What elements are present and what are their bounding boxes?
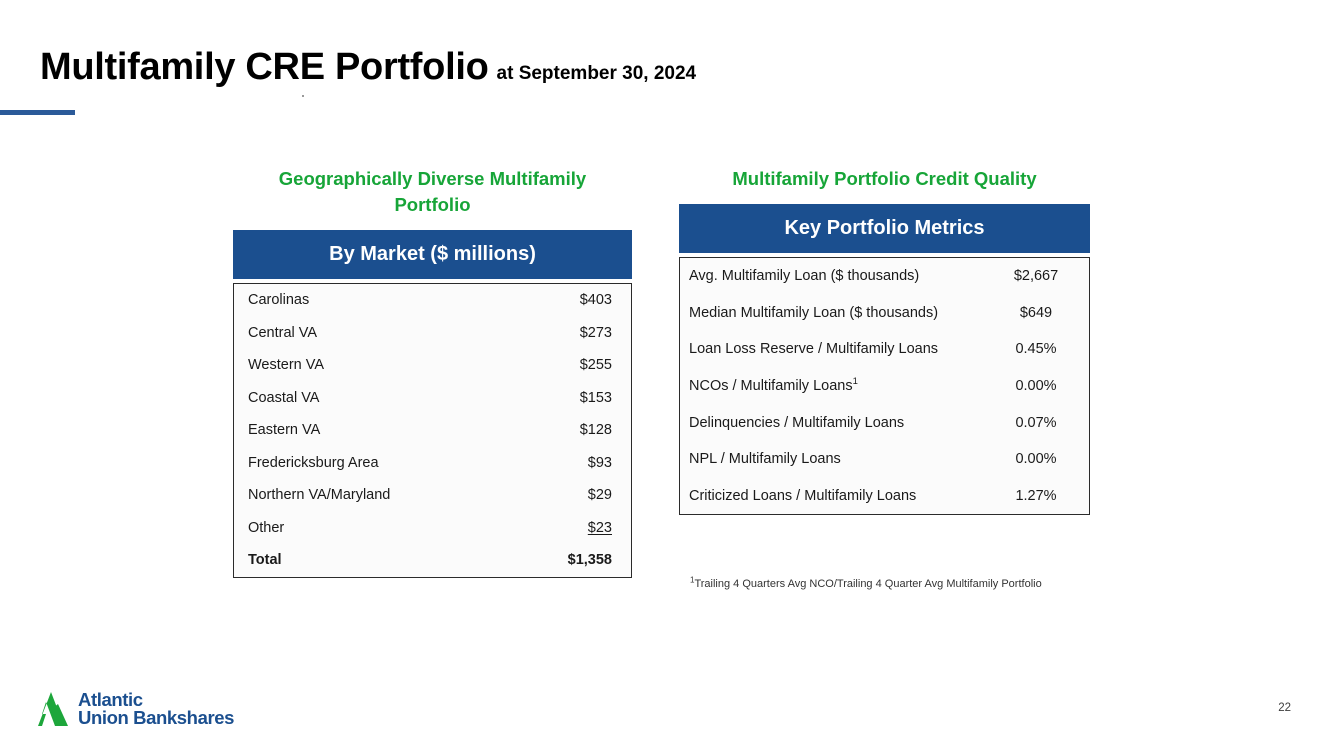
market-label: Carolinas [234, 284, 492, 317]
metric-label: Median Multifamily Loan ($ thousands) [680, 295, 983, 332]
page-title: Multifamily CRE Portfolioat September 30… [40, 46, 696, 89]
table-row: Eastern VA $128 [234, 414, 631, 447]
market-label: Other [234, 512, 492, 545]
metric-label-with-footnote: NCOs / Multifamily Loans1 [680, 368, 983, 405]
market-label: Eastern VA [234, 414, 492, 447]
metric-label: Loan Loss Reserve / Multifamily Loans [680, 331, 983, 368]
market-label: Central VA [234, 317, 492, 350]
total-value: $1,358 [492, 544, 631, 577]
left-panel-heading: Geographically Diverse Multifamily Portf… [233, 166, 632, 218]
metric-label: NPL / Multifamily Loans [680, 441, 983, 478]
market-value: $128 [492, 414, 631, 447]
market-value: $403 [492, 284, 631, 317]
logo-line-2: Union Bankshares [78, 709, 234, 727]
market-value: $255 [492, 349, 631, 382]
footnote-marker: 1 [853, 376, 858, 387]
metric-value: 1.27% [983, 478, 1089, 515]
logo-wordmark: Atlantic Union Bankshares [78, 691, 234, 727]
market-label: Coastal VA [234, 382, 492, 415]
market-label: Fredericksburg Area [234, 447, 492, 480]
table-row: Coastal VA $153 [234, 382, 631, 415]
market-value: $29 [492, 479, 631, 512]
metric-value: 0.00% [983, 441, 1089, 478]
panel-geographic-distribution: Geographically Diverse Multifamily Portf… [233, 166, 632, 578]
table-row: Fredericksburg Area $93 [234, 447, 631, 480]
metric-value: 0.45% [983, 331, 1089, 368]
table-row: Avg. Multifamily Loan ($ thousands) $2,6… [680, 258, 1089, 295]
table-row-total: Total $1,358 [234, 544, 631, 577]
metric-label: Delinquencies / Multifamily Loans [680, 404, 983, 441]
page-title-main: Multifamily CRE Portfolio [40, 46, 489, 88]
decorative-dot [302, 95, 304, 97]
key-metrics-table-header: Key Portfolio Metrics [679, 204, 1090, 253]
market-label: Western VA [234, 349, 492, 382]
metric-label: Avg. Multifamily Loan ($ thousands) [680, 258, 983, 295]
market-value: $273 [492, 317, 631, 350]
page-title-date: at September 30, 2024 [497, 63, 697, 84]
table-row: NCOs / Multifamily Loans1 0.00% [680, 368, 1089, 405]
metric-value: $649 [983, 295, 1089, 332]
table-row: Northern VA/Maryland $29 [234, 479, 631, 512]
metric-label-text: NCOs / Multifamily Loans [689, 378, 853, 394]
metric-value: 0.07% [983, 404, 1089, 441]
metric-value: $2,667 [983, 258, 1089, 295]
metric-value: 0.00% [983, 368, 1089, 405]
atlantic-union-mark-icon [38, 690, 72, 728]
table-row: Median Multifamily Loan ($ thousands) $6… [680, 295, 1089, 332]
table-row: Loan Loss Reserve / Multifamily Loans 0.… [680, 331, 1089, 368]
by-market-table-header: By Market ($ millions) [233, 230, 632, 279]
market-value-subtotal-rule: $23 [588, 520, 612, 536]
market-value: $153 [492, 382, 631, 415]
market-label: Northern VA/Maryland [234, 479, 492, 512]
by-market-table-body: Carolinas $403 Central VA $273 Western V… [233, 283, 632, 578]
table-row: Carolinas $403 [234, 284, 631, 317]
company-logo: Atlantic Union Bankshares [38, 690, 234, 728]
panel-credit-quality: Multifamily Portfolio Credit Quality Key… [679, 166, 1090, 515]
market-value: $93 [492, 447, 631, 480]
table-row: NPL / Multifamily Loans 0.00% [680, 441, 1089, 478]
metric-label: Criticized Loans / Multifamily Loans [680, 478, 983, 515]
footnote-text: Trailing 4 Quarters Avg NCO/Trailing 4 Q… [694, 578, 1041, 590]
table-row: Other $23 [234, 512, 631, 545]
table-row: Western VA $255 [234, 349, 631, 382]
table-row: Central VA $273 [234, 317, 631, 350]
table-row: Criticized Loans / Multifamily Loans 1.2… [680, 478, 1089, 515]
footnote: 1Trailing 4 Quarters Avg NCO/Trailing 4 … [690, 578, 1042, 590]
market-value-underlined: $23 [492, 512, 631, 545]
table-row: Delinquencies / Multifamily Loans 0.07% [680, 404, 1089, 441]
total-label: Total [234, 544, 492, 577]
title-accent-bar [0, 110, 75, 115]
by-market-rows: Carolinas $403 Central VA $273 Western V… [234, 284, 631, 577]
page-number: 22 [1278, 702, 1291, 714]
key-metrics-rows: Avg. Multifamily Loan ($ thousands) $2,6… [680, 258, 1089, 514]
key-metrics-table-body: Avg. Multifamily Loan ($ thousands) $2,6… [679, 257, 1090, 515]
right-panel-heading: Multifamily Portfolio Credit Quality [679, 166, 1090, 192]
